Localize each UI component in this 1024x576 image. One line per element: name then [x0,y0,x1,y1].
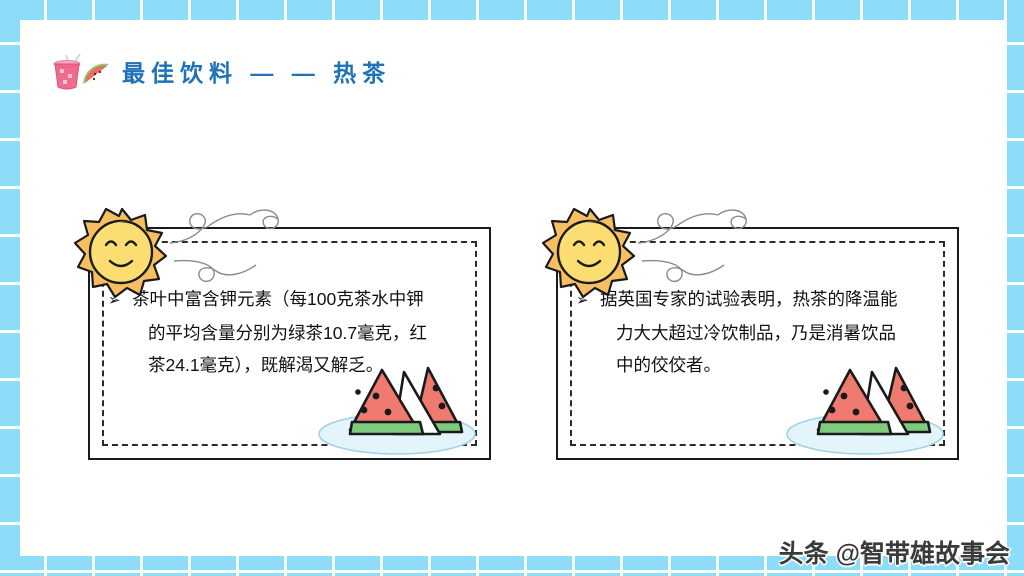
content-panel-right: ➢据英国专家的试验表明，热茶的降温能力大大超过冷饮制品，乃是消暑饮品中的佼佼者。 [536,205,961,470]
slide-title-row: 最佳饮料 — — 热茶 [50,50,391,92]
panel-right-body: 据英国专家的试验表明，热茶的降温能力大大超过冷饮制品，乃是消暑饮品中的佼佼者。 [600,289,898,375]
page-title: 最佳饮料 — — 热茶 [122,54,391,88]
wind-swirl-icon [164,203,344,298]
watermark-text: 头条 @智带雄故事会 [779,534,1010,570]
wind-swirl-icon [632,203,812,298]
smiling-sun-icon [68,205,176,303]
smiling-sun-icon [536,205,644,303]
panel-left-body: 茶叶中富含钾元素（每100克茶水中钾的平均含量分别为绿茶10.7毫克，红茶24.… [132,289,427,375]
drink-watermelon-icon [50,50,112,92]
content-panel-left: ➢茶叶中富含钾元素（每100克茶水中钾的平均含量分别为绿茶10.7毫克，红茶24… [68,205,493,470]
slide-card: 最佳饮料 — — 热茶 [20,20,1004,556]
